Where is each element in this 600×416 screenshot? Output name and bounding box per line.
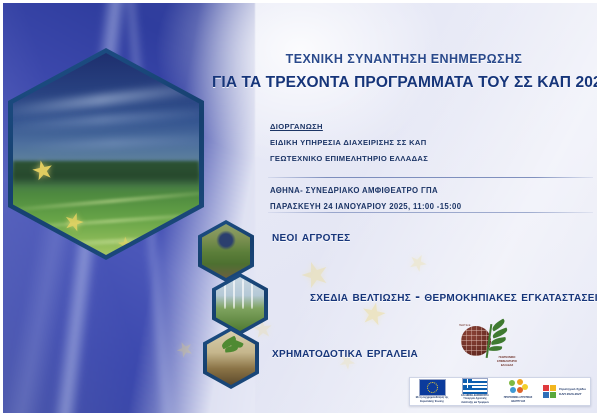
- kap-caption-line-1: Στρατηγικό Σχέδιο: [559, 387, 586, 391]
- eu-stars-ring: [427, 382, 438, 393]
- kap-logo-caption: Στρατηγικό Σχέδιο ΚΑΠ 2023-2027: [559, 387, 586, 396]
- paa-dot: [510, 387, 516, 393]
- farmer-artwork: [202, 224, 250, 278]
- geotee-emblem: ΓΕΩΤ.Ε.Ε. ΓΕΩΤΕΧΝΙΚΟ ΕΠΙΜΕΛΗΤΗΡΙΟ ΕΛΛΑΔΑ…: [459, 318, 521, 370]
- funding-logo-strip: Με τη συγχρηματοδότηση της Ευρωπαϊκής Έν…: [409, 377, 591, 406]
- organizer-line-2: ΓΕΩΤΕΧΝΙΚΟ ΕΠΙΜΕΛΗΤΗΡΙΟ ΕΛΛΑΔΑΣ: [270, 154, 595, 163]
- kap-icon: [543, 385, 557, 399]
- kap-square: [550, 392, 556, 398]
- eu-star-icon: ★: [29, 155, 57, 185]
- conference-poster: ★ ★ ★ ★ ★ ★ ★ ★ ★ ★ ★: [0, 0, 600, 416]
- topic-label-financial-tools: ΧΡΗΜΑΤΟΔΟΤΙΚΑ ΕΡΓΑΛΕΙΑ: [272, 344, 418, 360]
- greenhouse-rib: [251, 279, 253, 309]
- greenhouse-hexagon-image: [216, 277, 264, 331]
- cross-horizontal: [463, 383, 472, 385]
- eu-flag-icon: [419, 379, 446, 396]
- seedling-artwork: [207, 331, 255, 385]
- topic-label-improvement-plans: ΣΧΕΔΙΑ ΒΕΛΤΙΩΣΗΣ - ΘΕΡΜΟΚΗΠΙΑΚΕΣ ΕΓΚΑΤΑΣ…: [310, 288, 600, 304]
- seedling-hexagon-image: [207, 331, 255, 385]
- greek-flag-icon: [462, 378, 488, 394]
- venue-place: ΑΘΗΝΑ- ΣΥΝΕΔΡΙΑΚΟ ΑΜΦΙΘΕΑΤΡΟ ΓΠΑ: [270, 186, 595, 195]
- kap-square: [543, 392, 549, 398]
- poster-title: ΤΕΧΝΙΚΗ ΣΥΝΑΝΤΗΣΗ ΕΝΗΜΕΡΩΣΗΣ ΓΙΑ ΤΑ ΤΡΕΧ…: [212, 52, 596, 92]
- flag-stripe: [463, 388, 487, 390]
- kap-caption-line-2: ΚΑΠ 2023-2027: [559, 392, 586, 396]
- hero-hexagon-image: ★ ★ ★: [13, 53, 199, 255]
- divider-rule: [268, 177, 593, 178]
- emblem-arc-text: ΓΕΩΤ.Ε.Ε.: [459, 324, 493, 358]
- paa-icon: [508, 379, 528, 396]
- hellenic-republic-logo-caption: ΕΛΛΗΝΙΚΗ ΔΗΜΟΚΡΑΤΙΑ Υπουργείο Αγροτικής …: [457, 395, 493, 404]
- organizers-block: ΔΙΟΡΓΑΝΩΣΗ ΕΙΔΙΚΗ ΥΠΗΡΕΣΙΑ ΔΙΑΧΕΙΡΙΣΗΣ Σ…: [270, 122, 595, 170]
- farmer-hexagon-image: [202, 224, 250, 278]
- greenhouse-rib: [242, 279, 244, 309]
- flag-canton: [463, 379, 472, 388]
- divider-rule-secondary: [268, 212, 593, 213]
- organizer-line-1: ΕΙΔΙΚΗ ΥΠΗΡΕΣΙΑ ΔΙΑΧΕΙΡΙΣΗΣ ΣΣ ΚΑΠ: [270, 138, 595, 147]
- eu-flag-logo: Με τη συγχρηματοδότηση της Ευρωπαϊκής Έν…: [414, 379, 450, 403]
- venue-datetime: ΠΑΡΑΣΚΕΥΗ 24 ΙΑΝΟΥΑΡΙΟΥ 2025, 11:00 -15:…: [270, 202, 595, 211]
- kap-strategic-plan-logo: Στρατηγικό Σχέδιο ΚΑΠ 2023-2027: [543, 385, 586, 399]
- topic-label-new-farmers: ΝΕΟΙ ΑΓΡΟΤΕΣ: [272, 228, 350, 244]
- greenhouse-rib: [224, 279, 226, 309]
- paa-dot: [509, 380, 515, 386]
- hellenic-republic-logo: ΕΛΛΗΝΙΚΗ ΔΗΜΟΚΡΑΤΙΑ Υπουργείο Αγροτικής …: [457, 378, 493, 404]
- eu-flag-logo-caption: Με τη συγχρηματοδότηση της Ευρωπαϊκής Έν…: [414, 397, 450, 403]
- emblem-caption: ΓΕΩΤΕΧΝΙΚΟ ΕΠΙΜΕΛΗΤΗΡΙΟ ΕΛΛΑΔΑΣ: [492, 356, 522, 368]
- title-line-2: ΓΙΑ ΤΑ ΤΡΕΧΟΝΤΑ ΠΡΟΓΡΑΜΜΑΤΑ ΤΟΥ ΣΣ ΚΑΠ 2…: [212, 74, 596, 92]
- organizers-heading: ΔΙΟΡΓΑΝΩΣΗ: [270, 122, 595, 131]
- venue-block: ΑΘΗΝΑ- ΣΥΝΕΔΡΙΑΚΟ ΑΜΦΙΘΕΑΤΡΟ ΓΠΑ ΠΑΡΑΣΚΕ…: [270, 186, 595, 218]
- paa-logo-caption: ΠΡΟΓΡΑΜΜΑ ΑΓΡΟΤΙΚΗΣ ΑΝΑΠΤΥΞΗΣ: [500, 397, 536, 403]
- seedling-leaf: [225, 345, 239, 352]
- cloud-streak: [23, 134, 199, 151]
- field-furrow: [13, 189, 199, 214]
- title-line-1: ΤΕΧΝΙΚΗ ΣΥΝΑΝΤΗΣΗ ΕΝΗΜΕΡΩΣΗΣ: [212, 52, 596, 66]
- flag-stripe: [463, 392, 487, 394]
- greenhouse-rib: [233, 279, 235, 309]
- kap-square: [543, 385, 549, 391]
- kap-square: [550, 385, 556, 391]
- paa-logo: ΠΡΟΓΡΑΜΜΑ ΑΓΡΟΤΙΚΗΣ ΑΝΑΠΤΥΞΗΣ: [500, 379, 536, 403]
- paa-dot: [517, 387, 523, 393]
- greenhouse-artwork: [216, 277, 264, 331]
